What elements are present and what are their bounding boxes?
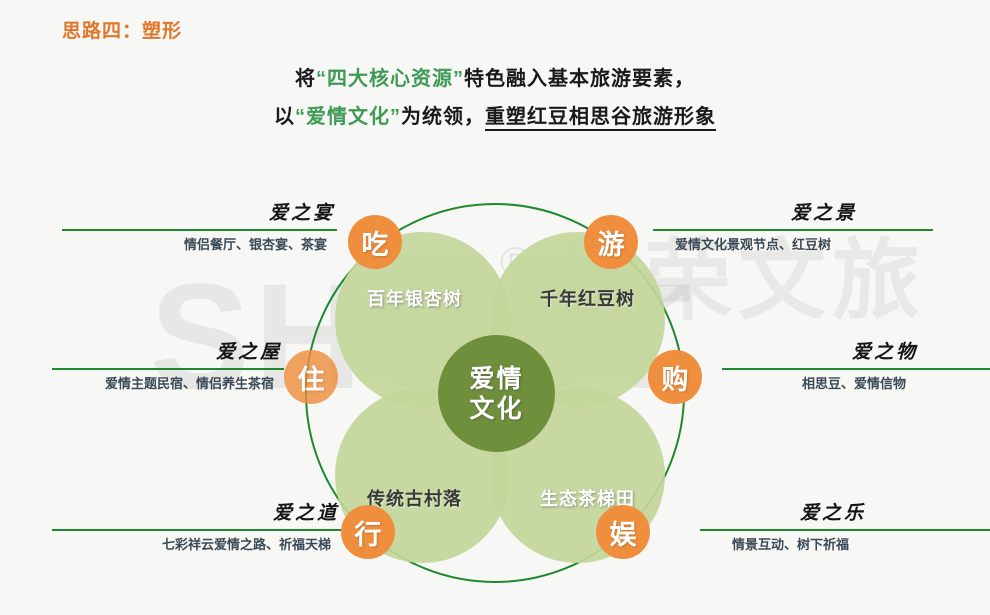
resource-label-red-bean-tree: 千年红豆树 [540, 285, 635, 311]
node-eat[interactable]: 吃 [348, 215, 402, 269]
core-circle-love-culture: 爱情 文化 [438, 335, 555, 452]
side-label-joy-of-love: 爱之乐 情景互动、树下祈福 [700, 503, 990, 554]
node-stay[interactable]: 住 [284, 350, 338, 404]
side-label-banquet-of-love: 爱之宴 情侣餐厅、银杏宴、茶宴 [62, 203, 337, 254]
subtitle-line-2: 以“爱情文化”为统领，重塑红豆相思谷旅游形象 [0, 98, 990, 136]
side-label-title-road-of-love: 爱之道 [52, 503, 341, 525]
subtitle-line2-mid: 为统领， [401, 106, 485, 128]
side-label-rule [52, 529, 341, 531]
node-shop[interactable]: 购 [648, 350, 702, 404]
node-label-travel: 行 [355, 513, 382, 552]
side-label-desc-house-of-love: 爱情主题民宿、情侣养生茶宿 [52, 375, 284, 393]
node-tour[interactable]: 游 [584, 215, 638, 269]
side-label-title-scenery-of-love: 爱之景 [653, 203, 933, 225]
side-label-desc-joy-of-love: 情景互动、树下祈福 [700, 536, 990, 554]
subtitle-line1-pre: 将 [295, 68, 316, 90]
subtitle-block: 将“四大核心资源”特色融入基本旅游要素， 以“爱情文化”为统领，重塑红豆相思谷旅… [0, 60, 990, 136]
subtitle-line2-pre: 以 [274, 106, 295, 128]
subtitle-line1-quote: “四大核心资源” [316, 68, 464, 90]
subtitle-line1-post: 特色融入基本旅游要素， [464, 68, 695, 90]
side-label-desc-token-of-love: 相思豆、爱情信物 [722, 375, 990, 393]
side-label-token-of-love: 爱之物 相思豆、爱情信物 [722, 342, 990, 393]
node-travel[interactable]: 行 [341, 505, 395, 559]
side-label-title-house-of-love: 爱之屋 [52, 342, 284, 364]
side-label-rule [722, 368, 990, 370]
node-label-fun: 娱 [610, 513, 637, 552]
node-label-eat: 吃 [362, 223, 389, 262]
core-label-line2: 文化 [469, 394, 523, 424]
side-label-scenery-of-love: 爱之景 爱情文化景观节点、红豆树 [653, 203, 933, 254]
core-label-line1: 爱情 [469, 364, 523, 394]
side-label-title-token-of-love: 爱之物 [722, 342, 990, 364]
side-label-title-banquet-of-love: 爱之宴 [62, 203, 337, 225]
side-label-road-of-love: 爱之道 七彩祥云爱情之路、祈福天梯 [52, 503, 341, 554]
page-title: 思路四：塑形 [62, 16, 182, 43]
side-label-rule [62, 229, 337, 231]
side-label-rule [653, 229, 933, 231]
resource-label-ancient-village: 传统古村落 [367, 485, 462, 511]
side-label-desc-road-of-love: 七彩祥云爱情之路、祈福天梯 [52, 536, 341, 554]
resource-label-ginkgo: 百年银杏树 [367, 285, 462, 311]
side-label-desc-banquet-of-love: 情侣餐厅、银杏宴、茶宴 [62, 236, 337, 254]
node-fun[interactable]: 娱 [596, 505, 650, 559]
side-label-house-of-love: 爱之屋 爱情主题民宿、情侣养生茶宿 [52, 342, 284, 393]
subtitle-line2-underlined: 重塑红豆相思谷旅游形象 [485, 106, 716, 131]
side-label-rule [52, 368, 284, 370]
subtitle-line-1: 将“四大核心资源”特色融入基本旅游要素， [0, 60, 990, 98]
node-label-stay: 住 [298, 358, 325, 397]
side-label-title-joy-of-love: 爱之乐 [700, 503, 990, 525]
subtitle-line2-quote: “爱情文化” [295, 106, 401, 128]
node-label-shop: 购 [662, 358, 689, 397]
node-label-tour: 游 [598, 223, 625, 262]
side-label-rule [700, 529, 990, 531]
side-label-desc-scenery-of-love: 爱情文化景观节点、红豆树 [653, 236, 933, 254]
